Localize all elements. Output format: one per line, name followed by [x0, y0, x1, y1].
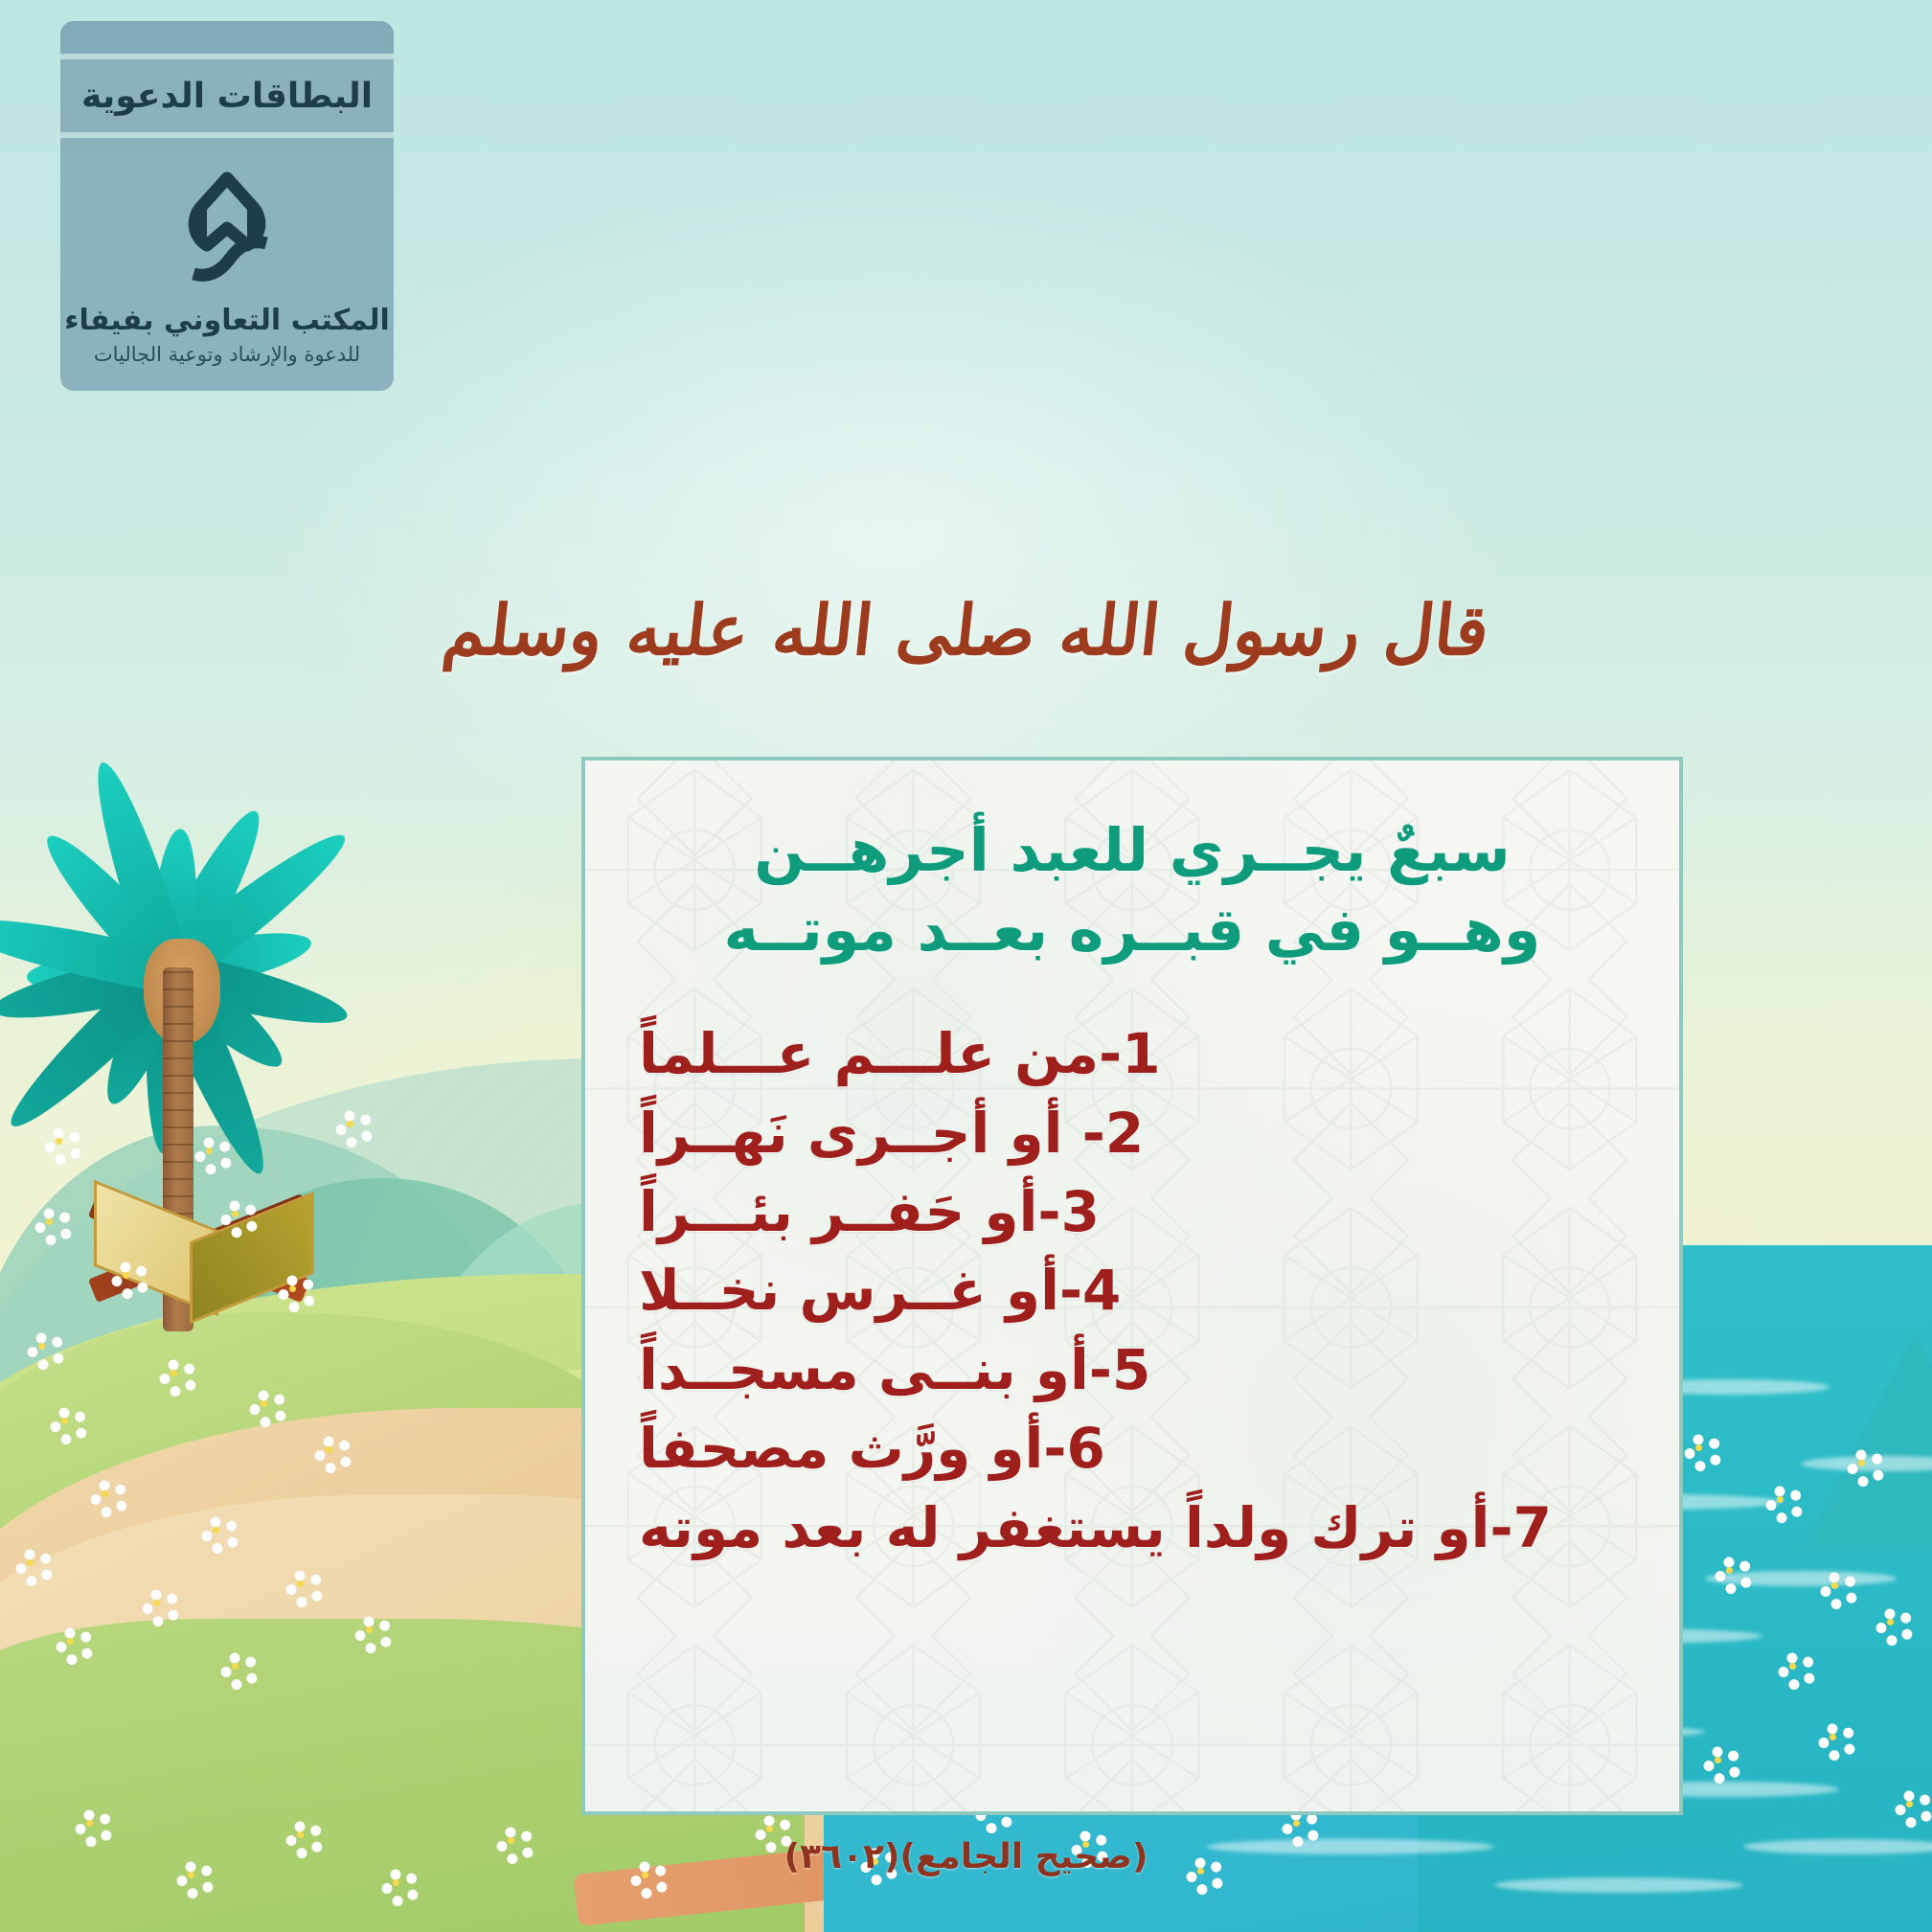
hadith-item-3: 3-أو حَفــر بئـــراً [639, 1179, 1100, 1244]
daisy-flower-icon [1897, 1791, 1921, 1816]
daisy-flower-icon [1686, 1435, 1711, 1460]
badge-top-strip [60, 21, 394, 59]
hadith-item-6: 6-أو ورَّث مصحفاً [639, 1416, 1105, 1481]
daisy-flower-icon [92, 1481, 117, 1506]
organization-subtitle: للدعوة والإرشاد وتوعية الجاليات [60, 343, 394, 366]
daisy-flower-icon [1822, 1573, 1847, 1598]
teal-peak-shape [1801, 1331, 1932, 1552]
water-wave [1494, 1877, 1743, 1893]
daisy-flower-icon [337, 1111, 362, 1136]
organization-name: المكتب التعاوني بفيفاء [60, 303, 394, 339]
daisy-flower-icon [36, 1209, 61, 1234]
source-citation: (صحيح الجامع)(٣٦٠٢) [0, 1837, 1932, 1876]
daisy-flower-icon [57, 1628, 82, 1653]
dawah-card-poster: البطاقات الدعوية المكتب التعاوني بفيفاء … [0, 0, 1932, 1932]
daisy-flower-icon [1767, 1487, 1792, 1512]
daisy-flower-icon [251, 1391, 276, 1416]
daisy-flower-icon [287, 1571, 312, 1596]
hadith-title-line-1: سبعٌ يجــري للعبد أجرهــن [639, 810, 1625, 890]
hadith-title-line-2: وهــو في قبــره بعــد موتــه [639, 890, 1625, 969]
header-badge: البطاقات الدعوية المكتب التعاوني بفيفاء … [60, 21, 394, 391]
daisy-flower-icon [196, 1138, 221, 1163]
hadith-item-2: 2- أو أجــرى نَهــراً [639, 1101, 1144, 1166]
hadith-item-1: 1-من علـــم عـــلماً [639, 1021, 1161, 1086]
daisy-flower-icon [144, 1590, 169, 1615]
daisy-flower-icon [1780, 1653, 1805, 1678]
daisy-flower-icon [52, 1408, 77, 1433]
daisy-flower-icon [77, 1810, 102, 1835]
hadith-title: سبعٌ يجــري للعبد أجرهــن وهــو في قبــر… [639, 810, 1625, 969]
daisy-flower-icon [46, 1128, 71, 1153]
badge-title: البطاقات الدعوية [60, 59, 394, 138]
badge-logo-block: المكتب التعاوني بفيفاء للدعوة والإرشاد و… [60, 138, 394, 391]
hadith-item-4: 4-أو غــرس نخــلا [639, 1258, 1121, 1323]
daisy-flower-icon [17, 1550, 42, 1575]
daisy-flower-icon [316, 1437, 341, 1462]
daisy-flower-icon [1849, 1450, 1874, 1475]
daisy-flower-icon [222, 1653, 247, 1678]
daisy-flower-icon [280, 1276, 305, 1301]
daisy-flower-icon [1877, 1609, 1902, 1634]
daisy-flower-icon [161, 1360, 186, 1385]
hadith-card: سبعٌ يجــري للعبد أجرهــن وهــو في قبــر… [581, 757, 1683, 1815]
daisy-flower-icon [1705, 1747, 1730, 1772]
hadith-item-7: 7-أو ترك ولداً يستغفر له بعد موته [639, 1495, 1552, 1560]
daisy-flower-icon [203, 1517, 228, 1542]
daisy-flower-icon [1820, 1724, 1845, 1749]
calligraphy-hadith-intro: قال رسول الله صلى الله عليه وسلم [0, 589, 1932, 671]
daisy-flower-icon [113, 1262, 138, 1287]
mosque-arch-logo-icon [60, 170, 394, 285]
daisy-flower-icon [356, 1617, 381, 1642]
hadith-items-list: 1-من علـــم عـــلماً2- أو أجــرى نَهــرا… [639, 1021, 1625, 1560]
daisy-flower-icon [222, 1201, 247, 1226]
daisy-flower-icon [1716, 1557, 1741, 1582]
hadith-item-5: 5-أو بنــى مسجــداً [639, 1337, 1150, 1402]
daisy-flower-icon [29, 1333, 54, 1358]
